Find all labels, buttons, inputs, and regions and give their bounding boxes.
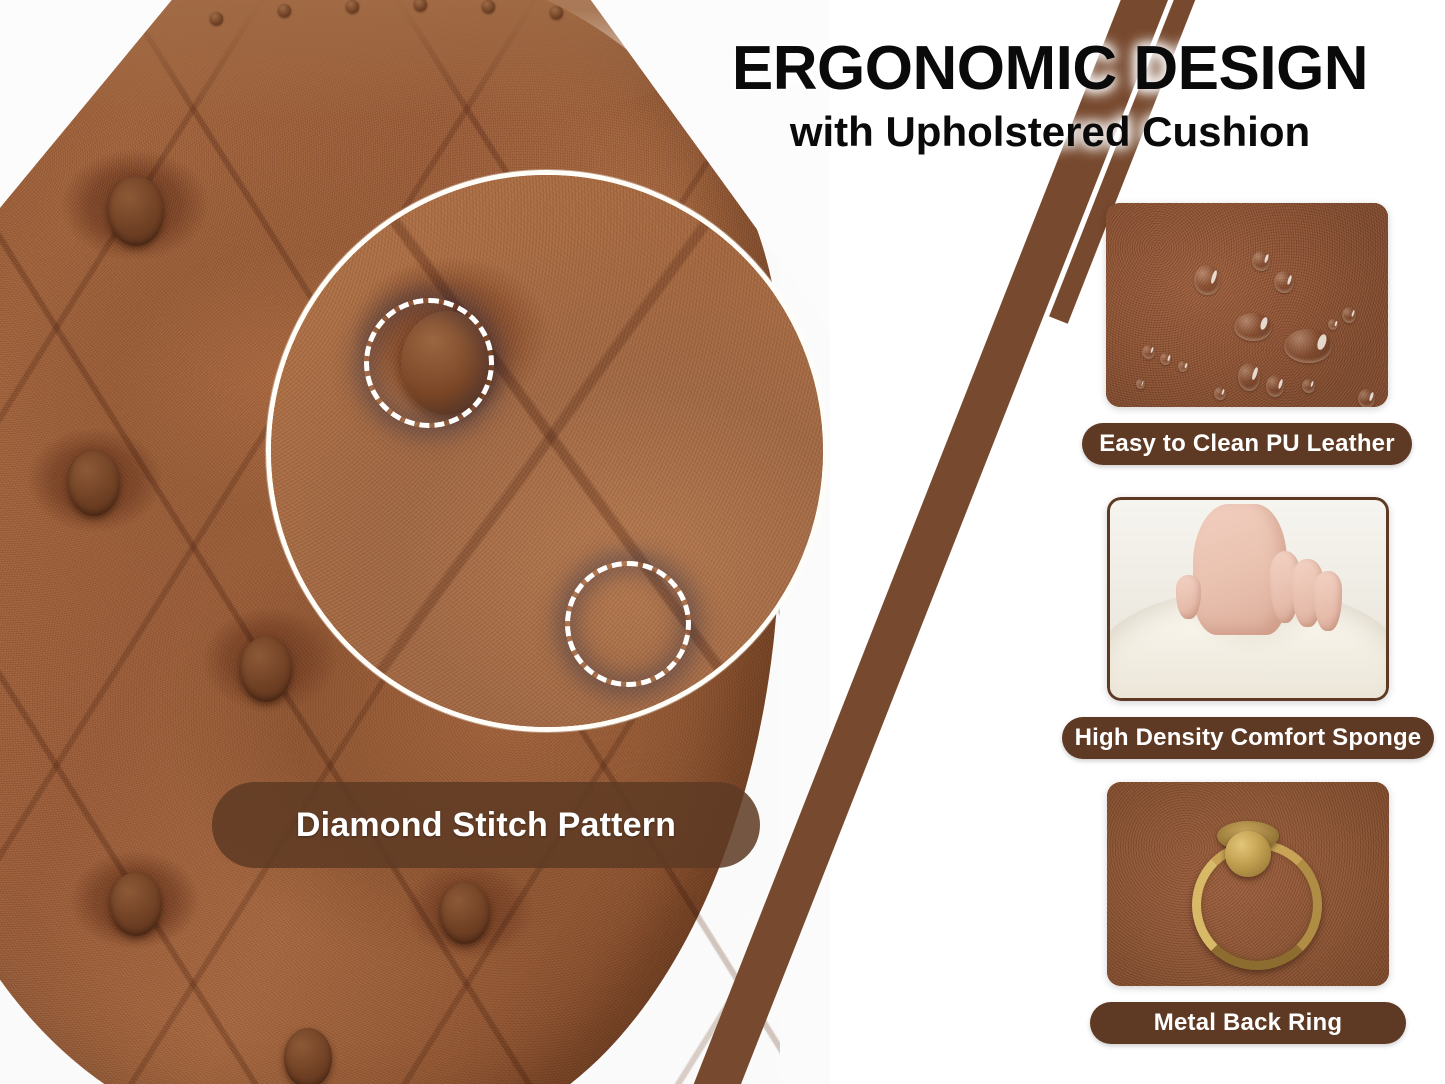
feature-label-pill: High Density Comfort Sponge — [1062, 717, 1434, 759]
caption-diamond-stitch-pattern: Diamond Stitch Pattern — [212, 782, 760, 868]
water-droplet — [1284, 329, 1332, 363]
magnified-tufting-detail — [266, 170, 828, 732]
nailhead-stud — [550, 6, 563, 19]
foam-surface — [1107, 497, 1389, 701]
feature-label-pill: Easy to Clean PU Leather — [1082, 423, 1412, 465]
tuft-button — [284, 1028, 332, 1084]
water-droplet — [1234, 313, 1272, 341]
caption-diamond-stitch-pattern-label: Diamond Stitch Pattern — [296, 806, 676, 845]
feature-easy-to-clean-pu-leather: Easy to Clean PU Leather — [1082, 203, 1412, 465]
water-droplet — [1252, 251, 1270, 271]
magnifier-leather-zoom — [266, 170, 828, 732]
tuft-button — [68, 450, 120, 516]
nailhead-stud — [346, 0, 359, 13]
page-title-line2: with Upholstered Cushion — [660, 109, 1440, 155]
water-droplet — [1142, 345, 1155, 359]
water-droplet — [1160, 353, 1171, 365]
water-droplet — [1342, 307, 1356, 323]
tuft-button — [440, 882, 490, 944]
water-droplet — [1194, 265, 1220, 295]
tuft-button — [110, 872, 162, 936]
feature-label: Metal Back Ring — [1154, 1009, 1342, 1037]
hand-pressing-foam-photo — [1107, 497, 1389, 701]
finger — [1176, 575, 1201, 619]
nailhead-stud — [210, 12, 223, 25]
water-droplet — [1328, 319, 1338, 330]
page-title: ERGONOMIC DESIGN with Upholstered Cushio… — [660, 36, 1440, 155]
water-droplet — [1274, 271, 1294, 293]
infographic-canvas: Diamond Stitch Pattern ERGONOMIC DESIGN … — [0, 0, 1445, 1084]
tuft-button — [108, 176, 164, 246]
water-droplet — [1178, 361, 1188, 372]
water-droplets-on-leather-photo — [1106, 203, 1388, 407]
feature-high-density-comfort-sponge: High Density Comfort Sponge — [1062, 497, 1434, 759]
feature-label-pill: Metal Back Ring — [1090, 1002, 1406, 1044]
water-droplet — [1266, 375, 1284, 397]
highlight-dashed-ring — [565, 561, 691, 687]
finger — [1314, 571, 1342, 630]
feature-metal-back-ring: Metal Back Ring — [1090, 782, 1406, 1044]
water-droplet — [1302, 379, 1315, 393]
nailhead-stud — [482, 0, 495, 13]
feature-label: High Density Comfort Sponge — [1075, 724, 1422, 752]
highlight-dashed-ring — [364, 298, 494, 428]
ring-mount-knob — [1225, 831, 1271, 877]
feature-label: Easy to Clean PU Leather — [1099, 430, 1395, 458]
page-title-line1: ERGONOMIC DESIGN — [660, 36, 1440, 101]
water-droplet — [1136, 379, 1145, 389]
nailhead-stud — [278, 4, 291, 17]
water-droplet — [1214, 387, 1226, 400]
brass-ring-pull-on-leather-photo — [1107, 782, 1389, 986]
water-droplet — [1238, 363, 1260, 391]
water-droplet — [1358, 389, 1375, 407]
magnifier-grain-texture — [266, 170, 828, 732]
